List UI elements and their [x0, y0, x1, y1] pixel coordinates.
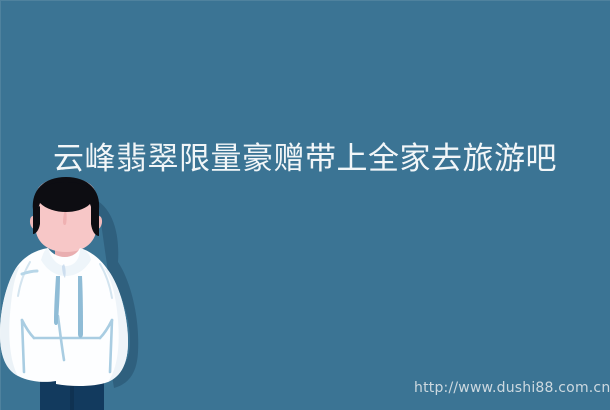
promo-banner: 云峰翡翠限量豪赠带上全家去旅游吧 http://www.dushi88.com.…	[0, 0, 610, 410]
page-title: 云峰翡翠限量豪赠带上全家去旅游吧	[0, 139, 610, 179]
illustration-person-in-white-hoodie	[0, 176, 160, 410]
watermark-url: http://www.dushi88.com.cn	[414, 379, 610, 397]
person-illustration-svg	[0, 176, 160, 410]
